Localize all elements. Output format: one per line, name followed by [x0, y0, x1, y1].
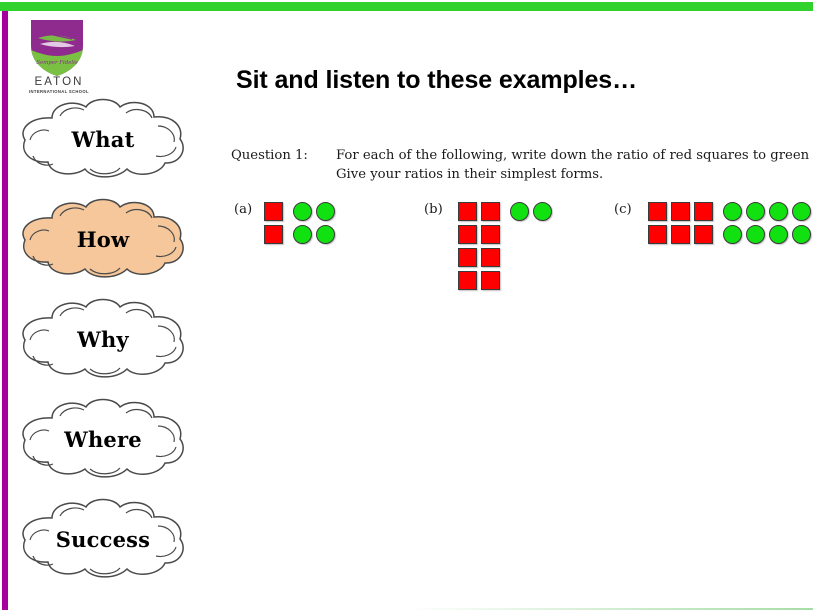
red-square	[458, 248, 477, 267]
logo-wordmark: EATON INTERNATIONAL SCHOOL	[28, 76, 90, 95]
slide-title: Sit and listen to these examples…	[236, 66, 637, 95]
green-circle	[746, 225, 765, 244]
part-a-shapes	[262, 200, 337, 246]
school-logo: Semper Fidelis EATON INTERNATIONAL SCHOO…	[28, 16, 90, 96]
red-square	[694, 202, 713, 221]
green-circle	[533, 202, 552, 221]
green-circle	[792, 225, 811, 244]
logo-name: EATON	[28, 76, 90, 88]
sidebar-item-where[interactable]: Where	[8, 396, 198, 482]
question-line: For each of the following, write down th…	[336, 146, 809, 165]
green-circle-group	[721, 200, 813, 246]
part-label: (b)	[424, 202, 443, 217]
green-circle	[723, 202, 742, 221]
green-circle-group	[508, 200, 554, 223]
green-circle	[769, 225, 788, 244]
red-square	[481, 271, 500, 290]
sidebar-item-success[interactable]: Success	[8, 496, 198, 582]
red-square	[648, 225, 667, 244]
green-circle	[746, 202, 765, 221]
red-square	[481, 248, 500, 267]
sidebar-item-how[interactable]: How	[8, 196, 198, 282]
part-c-shapes	[646, 200, 813, 246]
logo-shield-icon: Semper Fidelis	[28, 16, 86, 78]
part-label: (c)	[614, 202, 632, 217]
sidebar-item-what[interactable]: What	[8, 96, 198, 182]
question-text: For each of the following, write down th…	[336, 146, 809, 184]
slide-canvas: Semper Fidelis EATON INTERNATIONAL SCHOO…	[0, 0, 813, 610]
red-square	[264, 202, 283, 221]
red-square	[671, 225, 690, 244]
logo-subtitle: INTERNATIONAL SCHOOL	[28, 88, 90, 95]
red-square	[648, 202, 667, 221]
green-circle	[510, 202, 529, 221]
part-b-shapes	[456, 200, 554, 292]
red-square	[481, 225, 500, 244]
part-label: (a)	[234, 202, 252, 217]
green-circle	[723, 225, 742, 244]
green-circle	[293, 225, 312, 244]
green-circle	[316, 202, 335, 221]
green-circle	[293, 202, 312, 221]
question-label: Question 1:	[231, 146, 308, 165]
sidebar-item-why[interactable]: Why	[8, 296, 198, 382]
red-square	[264, 225, 283, 244]
red-square	[458, 271, 477, 290]
question-line: Give your ratios in their simplest forms…	[336, 165, 809, 184]
red-square	[458, 225, 477, 244]
red-square	[671, 202, 690, 221]
red-square	[481, 202, 500, 221]
red-square-group	[456, 200, 502, 292]
red-square-group	[262, 200, 285, 246]
green-circle	[769, 202, 788, 221]
green-circle	[316, 225, 335, 244]
red-square	[694, 225, 713, 244]
green-circle-group	[291, 200, 337, 246]
top-accent-bar	[0, 2, 813, 11]
red-square-group	[646, 200, 715, 246]
red-square	[458, 202, 477, 221]
svg-text:Semper Fidelis: Semper Fidelis	[36, 60, 77, 66]
green-circle	[792, 202, 811, 221]
